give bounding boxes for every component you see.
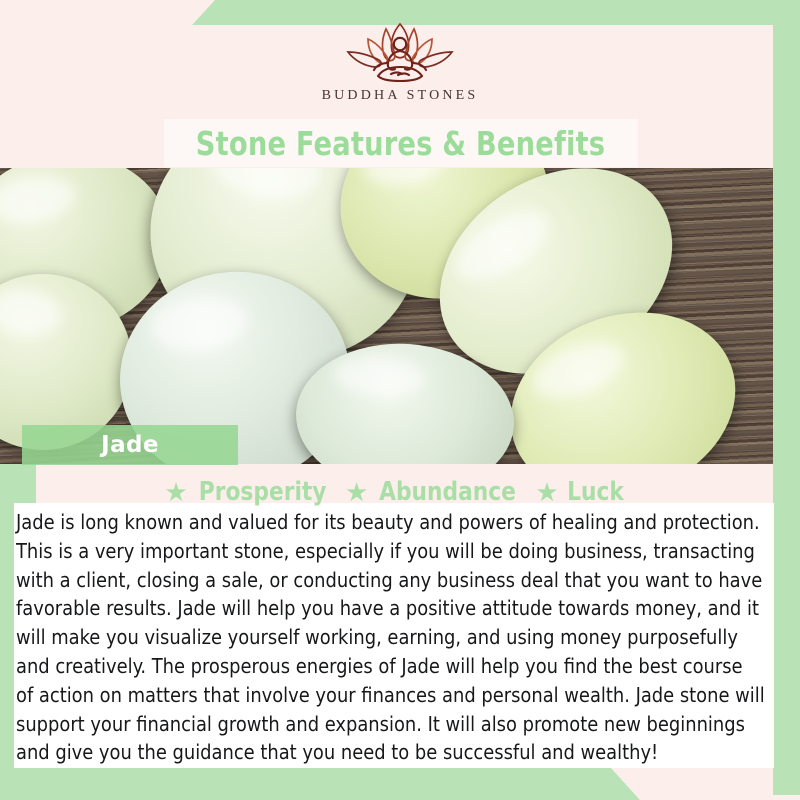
description-block: Jade is long known and valued for its be… xyxy=(16,508,784,767)
benefit-label: Abundance xyxy=(379,477,516,507)
brand-name: BUDDHA STONES xyxy=(0,88,800,104)
benefit-item: ★ Abundance xyxy=(345,477,521,507)
benefit-item: ★ Prosperity xyxy=(164,477,331,507)
star-icon: ★ xyxy=(164,479,187,505)
benefit-item: ★ Luck xyxy=(535,477,625,507)
stone-name-label: Jade xyxy=(101,432,159,458)
page-title: Stone Features & Benefits xyxy=(196,124,605,163)
lotus-meditation-icon xyxy=(338,18,462,84)
brand-header: BUDDHA STONES xyxy=(0,18,800,104)
stone-infographic: BUDDHA STONES Stone Features & Benefits … xyxy=(0,0,800,800)
stone-name-badge: Jade xyxy=(22,425,238,465)
title-banner: Stone Features & Benefits xyxy=(164,119,638,167)
stone-photo xyxy=(0,168,773,464)
description-text: Jade is long known and valued for its be… xyxy=(16,508,765,767)
benefit-label: Luck xyxy=(567,477,624,507)
benefit-label: Prosperity xyxy=(198,477,326,507)
star-icon: ★ xyxy=(535,479,558,505)
star-icon: ★ xyxy=(345,479,368,505)
benefits-row: ★ Prosperity ★ Abundance ★ Luck xyxy=(0,477,790,507)
